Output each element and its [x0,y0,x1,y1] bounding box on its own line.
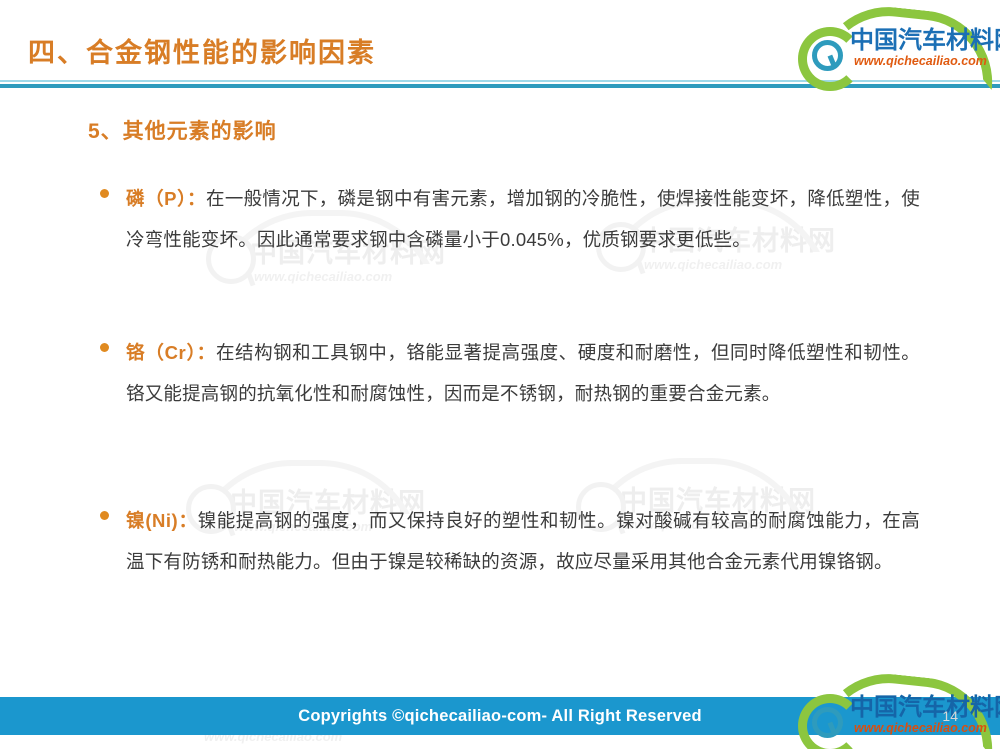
section-heading: 5、其他元素的影响 [88,115,277,145]
bullet-text: 镍(Ni)：镍能提高钢的强度，而又保持良好的塑性和韧性。镍对酸碱有较高的耐腐蚀能… [126,500,920,582]
site-logo[interactable]: 中国汽车材料网 www.qichecailiao.com [792,9,988,75]
bullet-dot-icon [100,189,109,198]
watermark-url: www.qichecailiao.com [254,270,446,283]
slide-header: 四、合金钢性能的影响因素 中国汽车材料网 www.qichecailiao.co… [0,0,1000,90]
bullet-dot-icon [100,343,109,352]
logo-name: 中国汽车材料网 [850,29,1000,53]
page-number: 14 [942,697,958,735]
bullet-body: 在一般情况下，磷是钢中有害元素，增加钢的冷脆性，使焊接性能变坏，降低塑性，使冷弯… [126,188,920,250]
bullet-term: 镍(Ni)： [126,510,198,531]
header-divider [0,84,1000,88]
bullet-term: 铬（Cr）： [126,342,216,363]
slide: 中国汽车材料网 www.qichecailiao.com 中国汽车材料网 www… [0,0,1000,749]
bullet-term: 磷（P）： [126,188,206,209]
bullet-text: 磷（P）：在一般情况下，磷是钢中有害元素，增加钢的冷脆性，使焊接性能变坏，降低塑… [126,178,920,260]
bullet-item-phosphorus: 磷（P）：在一般情况下，磷是钢中有害元素，增加钢的冷脆性，使焊接性能变坏，降低塑… [100,178,920,260]
logo-url: www.qichecailiao.com [854,722,987,735]
bullet-dot-icon [100,511,109,520]
logo-url: www.qichecailiao.com [854,55,987,68]
bullet-body: 镍能提高钢的强度，而又保持良好的塑性和韧性。镍对酸碱有较高的耐腐蚀能力，在高温下… [126,510,920,572]
bullet-item-chromium: 铬（Cr）：在结构钢和工具钢中，铬能显著提高强度、硬度和耐磨性，但同时降低塑性和… [100,332,920,414]
logo-name: 中国汽车材料网 [850,696,1000,720]
footer-site-logo[interactable]: 中国汽车材料网 www.qichecailiao.com [792,676,988,742]
bullet-item-nickel: 镍(Ni)：镍能提高钢的强度，而又保持良好的塑性和韧性。镍对酸碱有较高的耐腐蚀能… [100,500,920,582]
bullet-body: 在结构钢和工具钢中，铬能显著提高强度、硬度和耐磨性，但同时降低塑性和韧性。铬又能… [126,342,920,404]
page-title: 四、合金钢性能的影响因素 [28,31,376,70]
bullet-text: 铬（Cr）：在结构钢和工具钢中，铬能显著提高强度、硬度和耐磨性，但同时降低塑性和… [126,332,920,414]
